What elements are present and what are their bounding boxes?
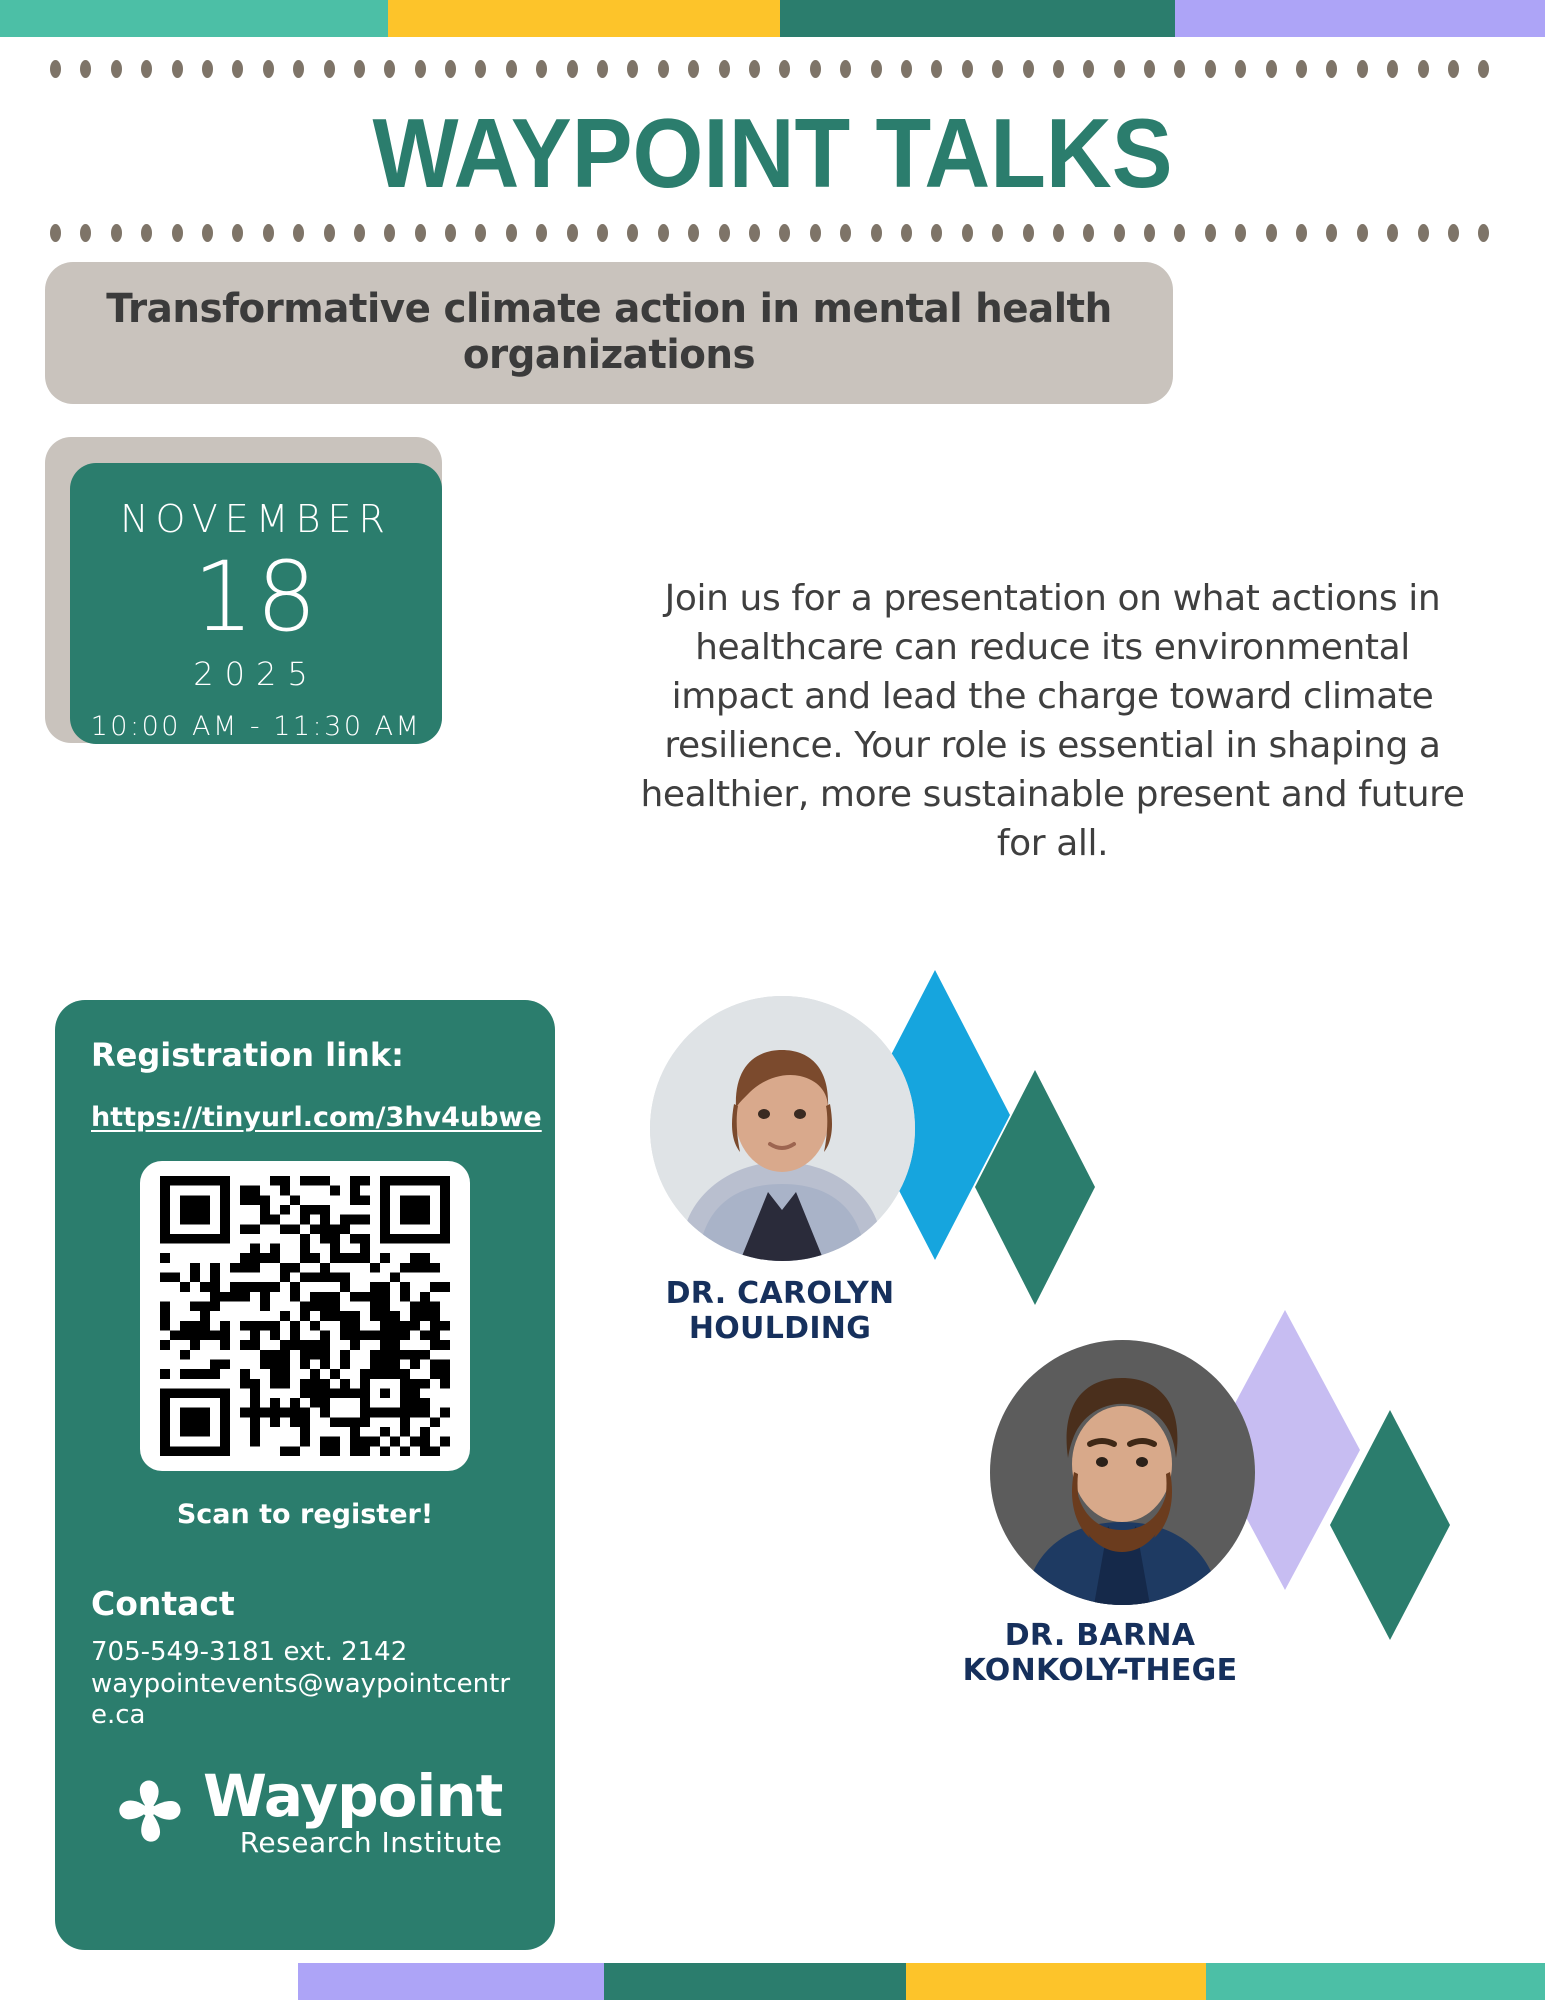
- rule-dot: [263, 60, 274, 78]
- bottom-color-bar: [0, 1963, 1545, 2000]
- rule-dot: [931, 224, 942, 242]
- rule-dot: [1448, 224, 1459, 242]
- teal-diamond-shape-2: [1330, 1410, 1450, 1640]
- rule-dot: [658, 224, 669, 242]
- page-title: WAYPOINT TALKS: [54, 104, 1491, 202]
- rule-dot: [232, 60, 243, 78]
- rule-dot: [1053, 224, 1064, 242]
- qr-code-image: [160, 1176, 450, 1456]
- rule-dot: [1114, 60, 1125, 78]
- rule-dot: [202, 224, 213, 242]
- rule-dot: [1357, 60, 1368, 78]
- rule-dot: [962, 224, 973, 242]
- contact-phone: 705-549-3181 ext. 2142: [91, 1637, 525, 1669]
- rule-dot: [810, 60, 821, 78]
- rule-dot: [1053, 60, 1064, 78]
- subtitle-text: Transformative climate action in mental …: [62, 287, 1156, 378]
- event-time: 10:00 AM - 11:30 AM: [91, 711, 422, 742]
- rule-dot: [1174, 60, 1185, 78]
- logo-tagline: Research Institute: [203, 1829, 502, 1857]
- color-bar-segment-mint: [1206, 1963, 1545, 2000]
- speaker-photo-carolyn: [650, 996, 915, 1261]
- event-day: 18: [193, 549, 319, 645]
- waypoint-logo: Waypoint Research Institute: [103, 1766, 525, 1858]
- color-bar-segment-deep-green: [604, 1963, 906, 2000]
- qr-code[interactable]: [140, 1161, 470, 1471]
- contact-heading: Contact: [91, 1584, 525, 1623]
- rule-dot: [445, 60, 456, 78]
- color-bar-segment-purple: [298, 1963, 604, 2000]
- rule-dot: [1326, 60, 1337, 78]
- rule-dot: [992, 60, 1003, 78]
- rule-dot: [719, 224, 730, 242]
- event-date-card: NOVEMBER 18 2025 10:00 AM - 11:30 AM: [45, 437, 442, 743]
- rule-dot: [779, 60, 790, 78]
- speaker-name-barna: DR. BARNA KONKOLY-THEGE: [890, 1618, 1310, 1689]
- rule-dot: [445, 224, 456, 242]
- speaker-name-carolyn-line2: HOULDING: [689, 1311, 871, 1346]
- rule-dot: [1174, 224, 1185, 242]
- rule-dot: [1326, 224, 1337, 242]
- rule-dot: [50, 224, 61, 242]
- registration-link[interactable]: https://tinyurl.com/3hv4ubwe: [91, 1102, 525, 1133]
- rule-dot: [1144, 224, 1155, 242]
- registration-heading: Registration link:: [91, 1036, 525, 1074]
- rule-dot: [141, 224, 152, 242]
- rule-dot: [840, 224, 851, 242]
- rule-dot: [172, 224, 183, 242]
- speaker-name-barna-line2: KONKOLY-THEGE: [963, 1653, 1238, 1688]
- rule-dot: [931, 60, 942, 78]
- rule-dot: [324, 224, 335, 242]
- rule-dot: [1023, 60, 1034, 78]
- rule-dot: [1114, 224, 1125, 242]
- rule-dot: [962, 60, 973, 78]
- rule-dot: [354, 60, 365, 78]
- speaker-name-carolyn-line1: DR. CAROLYN: [666, 1276, 895, 1311]
- rule-dot: [992, 224, 1003, 242]
- rule-dot: [293, 224, 304, 242]
- color-bar-segment-deep-green: [780, 0, 1175, 37]
- speaker-name-barna-line1: DR. BARNA: [1005, 1618, 1196, 1653]
- rule-dot: [1296, 60, 1307, 78]
- rule-dot: [506, 60, 517, 78]
- rule-dot: [1144, 60, 1155, 78]
- rule-dot: [567, 60, 578, 78]
- rule-dot: [172, 60, 183, 78]
- color-bar-segment-purple: [1175, 0, 1545, 37]
- event-month: NOVEMBER: [120, 497, 392, 541]
- rule-dot: [901, 224, 912, 242]
- rule-dot: [354, 224, 365, 242]
- rule-dot: [567, 224, 578, 242]
- rule-dot: [1205, 60, 1216, 78]
- rule-dot: [80, 224, 91, 242]
- rule-dot: [688, 60, 699, 78]
- rule-dot: [506, 224, 517, 242]
- logo-name: Waypoint: [203, 1762, 502, 1830]
- speaker-carolyn-houlding: DR. CAROLYN HOULDING: [650, 980, 1250, 1300]
- rule-dot: [871, 60, 882, 78]
- rule-dot: [627, 224, 638, 242]
- color-bar-segment-white: [0, 1963, 298, 2000]
- rule-dot: [384, 224, 395, 242]
- rule-dot: [840, 60, 851, 78]
- rule-dot: [141, 60, 152, 78]
- rule-dot: [597, 60, 608, 78]
- rule-dot: [1266, 224, 1277, 242]
- subtitle-banner: Transformative climate action in mental …: [45, 262, 1173, 404]
- rule-dot: [749, 224, 760, 242]
- dotted-rule-bottom: [50, 222, 1490, 244]
- rule-dot: [475, 60, 486, 78]
- color-bar-segment-yellow: [388, 0, 780, 37]
- rule-dot: [1205, 224, 1216, 242]
- qr-caption: Scan to register!: [85, 1499, 525, 1530]
- rule-dot: [749, 60, 760, 78]
- rule-dot: [810, 224, 821, 242]
- rule-dot: [1235, 60, 1246, 78]
- event-year: 2025: [193, 655, 318, 693]
- rule-dot: [1235, 224, 1246, 242]
- rule-dot: [293, 60, 304, 78]
- rule-dot: [536, 224, 547, 242]
- waypoint-pinwheel-icon: [103, 1766, 195, 1858]
- rule-dot: [901, 60, 912, 78]
- rule-dot: [1387, 224, 1398, 242]
- rule-dot: [1266, 60, 1277, 78]
- waypoint-logo-text: Waypoint Research Institute: [203, 1767, 502, 1857]
- rule-dot: [202, 60, 213, 78]
- rule-dot: [1387, 60, 1398, 78]
- rule-dot: [111, 60, 122, 78]
- rule-dot: [719, 60, 730, 78]
- rule-dot: [779, 224, 790, 242]
- rule-dot: [1478, 60, 1489, 78]
- speaker-barna-konkoly-thege: DR. BARNA KONKOLY-THEGE: [960, 1330, 1545, 1650]
- rule-dot: [475, 224, 486, 242]
- poster-canvas: WAYPOINT TALKS Transformative climate ac…: [0, 0, 1545, 2000]
- rule-dot: [1357, 224, 1368, 242]
- top-color-bar: [0, 0, 1545, 37]
- rule-dot: [597, 224, 608, 242]
- rule-dot: [384, 60, 395, 78]
- registration-panel: Registration link: https://tinyurl.com/3…: [55, 1000, 555, 1950]
- speaker-name-carolyn: DR. CAROLYN HOULDING: [590, 1276, 970, 1347]
- rule-dot: [1478, 224, 1489, 242]
- rule-dot: [1418, 60, 1429, 78]
- rule-dot: [658, 60, 669, 78]
- rule-dot: [627, 60, 638, 78]
- rule-dot: [1418, 224, 1429, 242]
- rule-dot: [111, 224, 122, 242]
- dotted-rule-top: [50, 58, 1490, 80]
- color-bar-segment-yellow: [906, 1963, 1206, 2000]
- rule-dot: [415, 224, 426, 242]
- event-description: Join us for a presentation on what actio…: [630, 575, 1475, 869]
- speaker-photo-barna: [990, 1340, 1255, 1605]
- rule-dot: [263, 224, 274, 242]
- contact-details: 705-549-3181 ext. 2142 waypointevents@wa…: [91, 1637, 525, 1732]
- rule-dot: [232, 224, 243, 242]
- rule-dot: [324, 60, 335, 78]
- rule-dot: [688, 224, 699, 242]
- contact-email: waypointevents@waypointcentre.ca: [91, 1669, 525, 1732]
- rule-dot: [80, 60, 91, 78]
- rule-dot: [415, 60, 426, 78]
- event-date-inner: NOVEMBER 18 2025 10:00 AM - 11:30 AM: [70, 463, 442, 744]
- rule-dot: [1083, 224, 1094, 242]
- rule-dot: [1296, 224, 1307, 242]
- color-bar-segment-mint: [0, 0, 388, 37]
- rule-dot: [1448, 60, 1459, 78]
- teal-diamond-shape: [975, 1070, 1095, 1305]
- rule-dot: [50, 60, 61, 78]
- rule-dot: [1083, 60, 1094, 78]
- rule-dot: [1023, 224, 1034, 242]
- rule-dot: [536, 60, 547, 78]
- rule-dot: [871, 224, 882, 242]
